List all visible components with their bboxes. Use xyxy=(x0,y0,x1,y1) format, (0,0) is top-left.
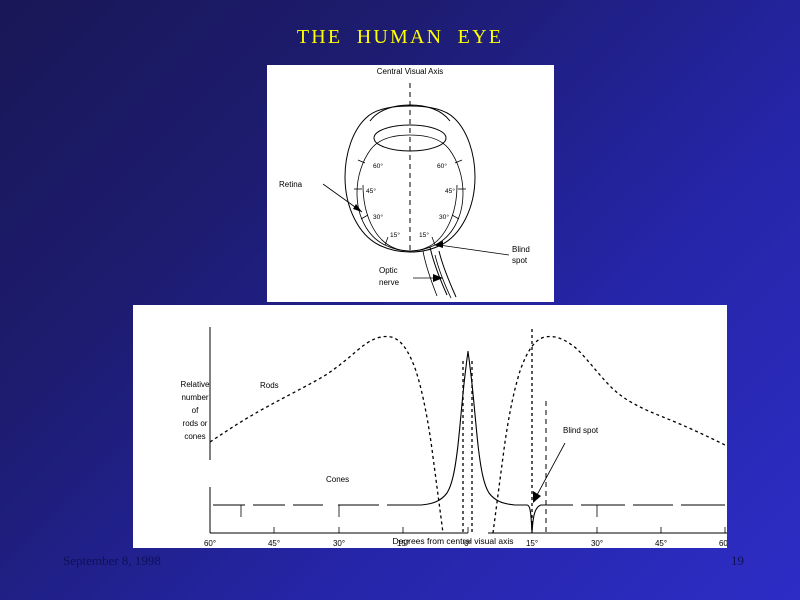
footer-page-number: 19 xyxy=(731,553,744,569)
angle-label-left-15: 15° xyxy=(390,231,400,239)
optic-nerve-label-line1: Optic xyxy=(379,266,398,275)
angle-label-right-45: 45° xyxy=(445,187,455,195)
x-tick-label-2: 30° xyxy=(333,539,345,548)
angle-tick-left-30 xyxy=(361,215,368,219)
rod-cone-distribution-figure: Relative number of rods or cones 60° xyxy=(133,305,727,548)
rods-curve-right xyxy=(493,337,725,534)
page-title: THE HUMAN EYE xyxy=(0,26,800,49)
rods-curve-left xyxy=(210,337,443,534)
blind-spot-label-line2: spot xyxy=(512,256,528,265)
retina-arrowhead xyxy=(353,204,362,212)
x-axis-title: Degrees from central visual axis xyxy=(393,536,514,546)
y-axis-label-line4: rods or xyxy=(183,419,208,428)
x-tick-label-8: 60° xyxy=(719,539,727,548)
blind-spot-annotation-line1: Blind spot xyxy=(563,426,599,435)
optic-nerve-edge-3 xyxy=(423,251,437,296)
angle-label-right-60: 60° xyxy=(437,162,447,170)
x-tick-label-1: 45° xyxy=(268,539,280,548)
blind-spot-leader-line xyxy=(439,245,509,255)
rods-series-label: Rods xyxy=(260,381,279,390)
eye-central-visual-axis-label: Central Visual Axis xyxy=(377,67,444,76)
y-axis-label-line1: Relative xyxy=(181,380,210,389)
cones-fovea-spike xyxy=(421,351,515,505)
cones-series-label: Cones xyxy=(326,475,349,484)
x-tick-label-0: 60° xyxy=(204,539,216,548)
x-tick-label-7: 45° xyxy=(655,539,667,548)
angle-label-right-30: 30° xyxy=(439,213,449,221)
blind-spot-label-line1: Blind xyxy=(512,245,530,254)
optic-nerve-label-line2: nerve xyxy=(379,278,400,287)
x-tick-label-6: 30° xyxy=(591,539,603,548)
angle-label-right-15: 15° xyxy=(419,231,429,239)
blind-spot-annotation-arrowhead xyxy=(533,491,541,503)
angle-label-left-60: 60° xyxy=(373,162,383,170)
eye-cross-section-figure: Central Visual Axis 60° 45° 30° 15° xyxy=(267,65,554,302)
angle-tick-right-30 xyxy=(452,215,459,219)
angle-label-left-30: 30° xyxy=(373,213,383,221)
presentation-slide: THE HUMAN EYE Central Visual Axis xyxy=(0,0,800,600)
retina-label: Retina xyxy=(279,180,303,189)
y-axis-label-line5: cones xyxy=(184,432,205,441)
optic-nerve-edge-1 xyxy=(430,247,447,295)
blind-spot-annotation-leader xyxy=(537,443,565,495)
footer-date: September 8, 1998 xyxy=(63,553,161,569)
x-tick-label-5: 15° xyxy=(526,539,538,548)
angle-label-left-45: 45° xyxy=(366,187,376,195)
y-axis-label-line2: number xyxy=(181,393,208,402)
y-axis-label-line3: of xyxy=(192,406,199,415)
